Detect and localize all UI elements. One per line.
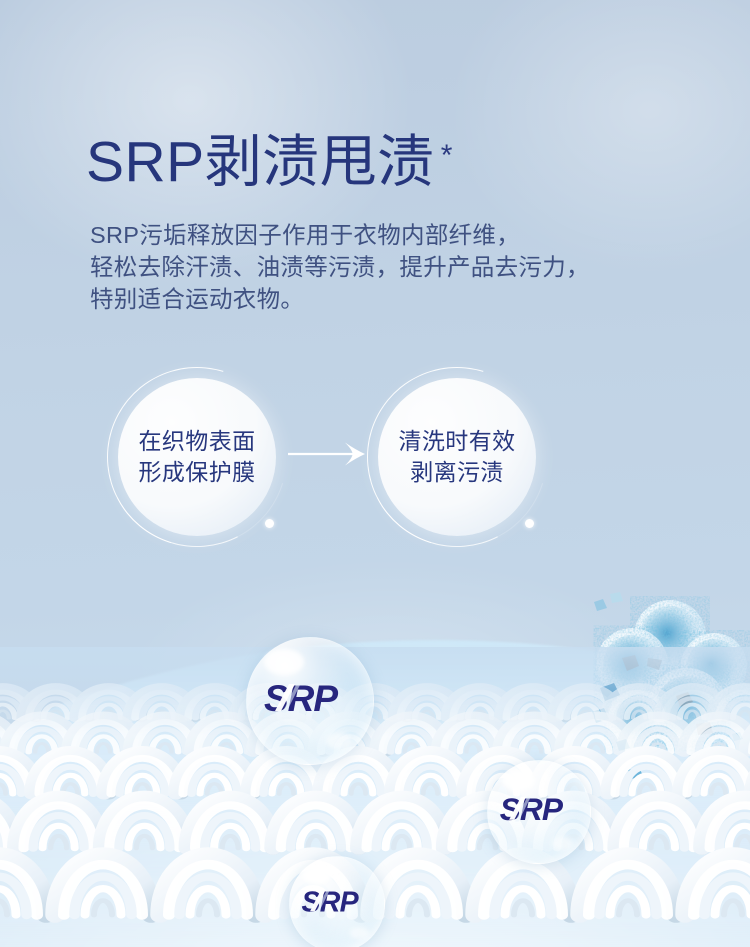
description-line-3: 特别适合运动衣物。 bbox=[90, 283, 630, 315]
step-1-label: 在织物表面 形成保护膜 bbox=[139, 426, 256, 488]
bubble-highlight-secondary bbox=[350, 927, 369, 939]
step-2-line-2: 剥离污渍 bbox=[399, 457, 516, 488]
footnote-asterisk: * bbox=[441, 139, 453, 172]
process-step-1: 在织物表面 形成保护膜 bbox=[118, 378, 276, 536]
step-1-line-1: 在织物表面 bbox=[139, 426, 256, 457]
bubble-highlight bbox=[502, 770, 535, 791]
srp-bubble-medium: SRP bbox=[487, 760, 591, 864]
step-2-accent-dot bbox=[525, 519, 534, 528]
srp-bubble-small: SRP bbox=[289, 856, 385, 947]
step-2-disc: 清洗时有效 剥离污渍 bbox=[378, 378, 536, 536]
bubble-highlight-secondary bbox=[552, 837, 573, 850]
srp-logo-icon: SRP bbox=[262, 680, 358, 723]
promo-banner: SRP剥渍甩渍* SRP污垢释放因子作用于衣物内部纤维， 轻松去除汗渍、油渍等污… bbox=[0, 0, 750, 947]
svg-text:SRP: SRP bbox=[302, 887, 360, 917]
bubble-highlight bbox=[264, 649, 304, 675]
srp-logo-icon: SRP bbox=[498, 793, 580, 831]
step-2-label: 清洗时有效 剥离污渍 bbox=[399, 426, 516, 488]
bubble-highlight bbox=[302, 865, 332, 884]
arrow-right-icon bbox=[288, 441, 368, 467]
srp-logo-icon: SRP bbox=[300, 887, 374, 922]
step-1-disc: 在织物表面 形成保护膜 bbox=[118, 378, 276, 536]
description-line-2: 轻松去除汗渍、油渍等污渍，提升产品去污力， bbox=[90, 251, 630, 283]
process-step-2: 清洗时有效 剥离污渍 bbox=[378, 378, 536, 536]
srp-bubble-large: SRP bbox=[246, 637, 374, 765]
description-paragraph: SRP污垢释放因子作用于衣物内部纤维， 轻松去除汗渍、油渍等污渍，提升产品去污力… bbox=[90, 219, 630, 315]
page-title: SRP剥渍甩渍* bbox=[86, 124, 453, 194]
description-line-1: SRP污垢释放因子作用于衣物内部纤维， bbox=[90, 219, 630, 251]
step-2-line-1: 清洗时有效 bbox=[399, 426, 516, 457]
step-1-line-2: 形成保护膜 bbox=[139, 457, 256, 488]
page-title-text: SRP剥渍甩渍 bbox=[86, 130, 435, 194]
step-1-accent-dot bbox=[265, 519, 274, 528]
svg-text:SRP: SRP bbox=[500, 793, 564, 826]
bubble-highlight-secondary bbox=[326, 733, 352, 749]
